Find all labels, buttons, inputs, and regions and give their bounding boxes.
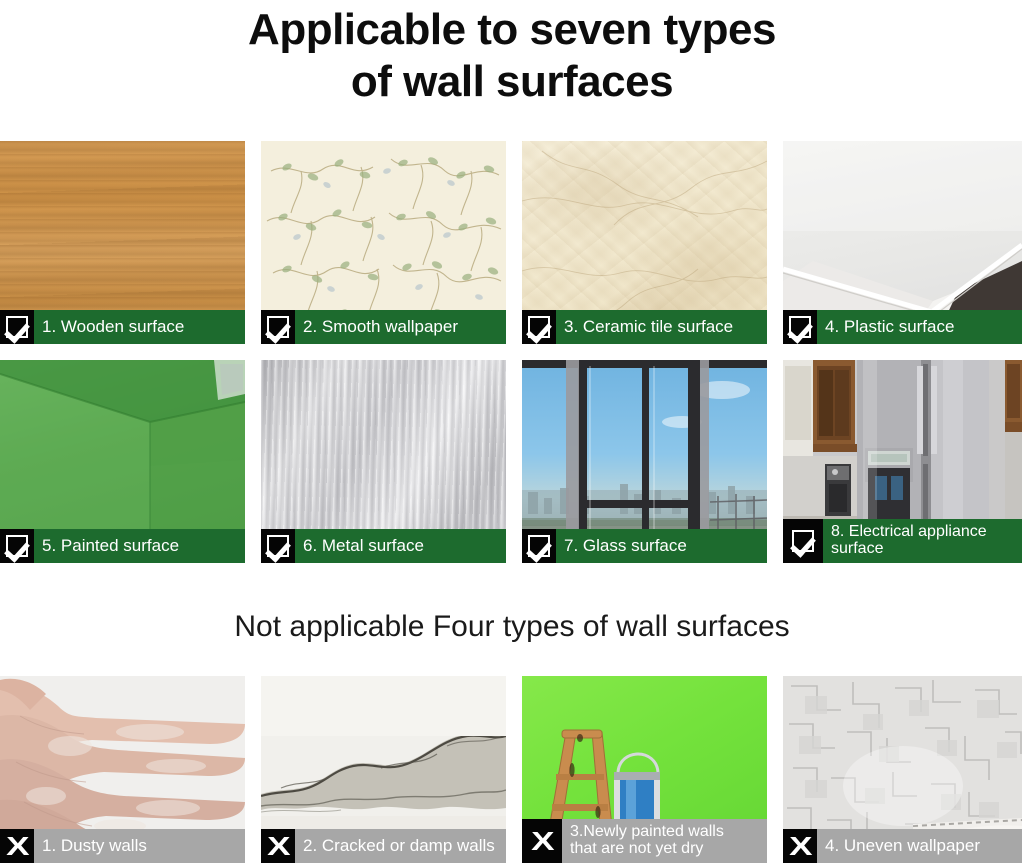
x-icon: X [261, 829, 295, 863]
caption-label: 3. Ceramic tile surface [556, 310, 767, 344]
caption-painted: 5. Painted surface [0, 529, 245, 563]
caption-appliance: 8. Electrical appliance surface [783, 519, 1022, 563]
caption-glass: 7. Glass surface [522, 529, 767, 563]
surface-card-appliance: 8. Electrical appliance surface [783, 360, 1022, 563]
caption-label: 7. Glass surface [556, 529, 767, 563]
applicable-row-1: 1. Wooden surface [0, 141, 1024, 344]
x-icon: X [783, 829, 817, 863]
caption-label: 8. Electrical appliance surface [823, 519, 1022, 563]
surface-card-newly-painted: X 3.Newly painted walls that are not yet… [522, 676, 767, 863]
caption-plastic: 4. Plastic surface [783, 310, 1022, 344]
not-applicable-heading: Not applicable Four types of wall surfac… [0, 610, 1024, 643]
check-icon [783, 310, 817, 344]
x-icon: X [522, 819, 562, 863]
check-icon [0, 310, 34, 344]
title-line-1: Applicable to seven types [0, 4, 1024, 56]
caption-label: 6. Metal surface [295, 529, 506, 563]
title-line-2: of wall surfaces [0, 56, 1024, 108]
page-title: Applicable to seven types of wall surfac… [0, 4, 1024, 108]
surface-card-uneven: X 4. Uneven wallpaper [783, 676, 1022, 863]
caption-label: 5. Painted surface [34, 529, 245, 563]
check-icon [261, 529, 295, 563]
caption-label: 1. Dusty walls [34, 829, 245, 863]
caption-ceramic: 3. Ceramic tile surface [522, 310, 767, 344]
surface-card-cracked: X 2. Cracked or damp walls [261, 676, 506, 863]
surface-card-wooden: 1. Wooden surface [0, 141, 245, 344]
surface-card-metal: 6. Metal surface [261, 360, 506, 563]
surface-card-ceramic: 3. Ceramic tile surface [522, 141, 767, 344]
caption-label: 2. Smooth wallpaper [295, 310, 506, 344]
caption-wallpaper: 2. Smooth wallpaper [261, 310, 506, 344]
caption-wooden: 1. Wooden surface [0, 310, 245, 344]
check-icon [261, 310, 295, 344]
caption-cracked: X 2. Cracked or damp walls [261, 829, 506, 863]
caption-metal: 6. Metal surface [261, 529, 506, 563]
surface-card-painted: 5. Painted surface [0, 360, 245, 563]
not-applicable-row: X 1. Dusty walls [0, 676, 1024, 863]
check-icon [522, 529, 556, 563]
applicable-row-2: 5. Painted surface 6. Metal surface [0, 360, 1024, 563]
x-icon: X [0, 829, 34, 863]
caption-newly-painted: X 3.Newly painted walls that are not yet… [522, 819, 767, 863]
caption-label: 3.Newly painted walls that are not yet d… [562, 819, 767, 863]
surface-card-wallpaper: 2. Smooth wallpaper [261, 141, 506, 344]
check-icon [783, 519, 823, 563]
caption-dusty: X 1. Dusty walls [0, 829, 245, 863]
caption-uneven: X 4. Uneven wallpaper [783, 829, 1022, 863]
caption-label: 4. Plastic surface [817, 310, 1022, 344]
surface-card-glass: 7. Glass surface [522, 360, 767, 563]
check-icon [0, 529, 34, 563]
surface-card-dusty: X 1. Dusty walls [0, 676, 245, 863]
check-icon [522, 310, 556, 344]
surface-card-plastic: 4. Plastic surface [783, 141, 1022, 344]
caption-label: 2. Cracked or damp walls [295, 829, 506, 863]
caption-label: 4. Uneven wallpaper [817, 829, 1022, 863]
caption-label: 1. Wooden surface [34, 310, 245, 344]
infographic-page: Applicable to seven types of wall surfac… [0, 0, 1024, 863]
